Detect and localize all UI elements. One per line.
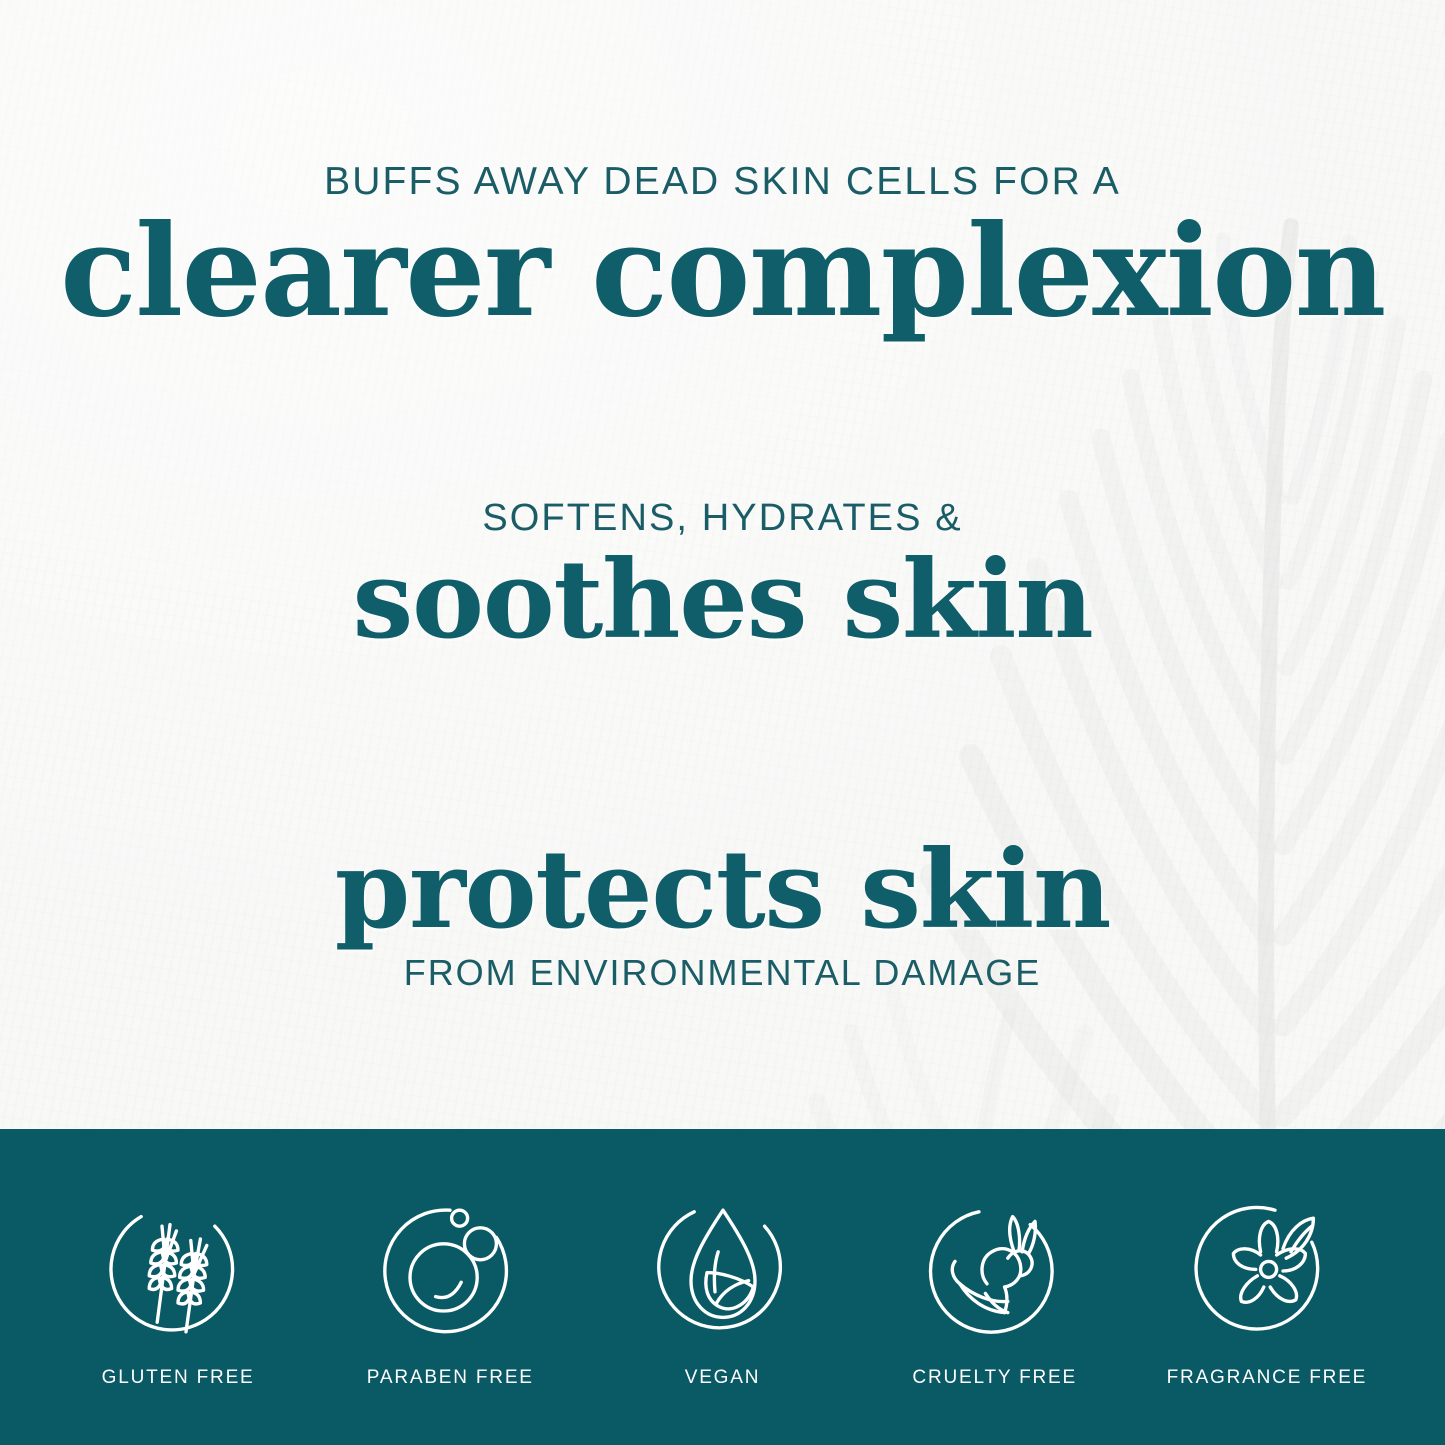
badge-label-cruelty-free: CRUELTY FREE [912, 1367, 1077, 1389]
rabbit-in-hand-icon [915, 1191, 1075, 1351]
wheat-stalks-icon [98, 1191, 258, 1351]
claim-1-headline: clearer complexion [0, 208, 1445, 334]
badge-label-fragrance-free: FRAGRANCE FREE [1167, 1367, 1368, 1389]
badge-label-paraben-free: PARABEN FREE [367, 1367, 534, 1389]
badge-cruelty-free: CRUELTY FREE [859, 1129, 1131, 1389]
badge-label-gluten-free: GLUTEN FREE [102, 1367, 255, 1389]
benefit-claim-1: BUFFS AWAY DEAD SKIN CELLS FOR A clearer… [0, 160, 1445, 334]
claim-2-headline: soothes skin [0, 546, 1445, 654]
certification-badge-bar: GLUTEN FREE PARABEN FREE [0, 1129, 1445, 1445]
badge-fragrance-free: FRAGRANCE FREE [1131, 1129, 1403, 1389]
claim-2-kicker: SOFTENS, HYDRATES & [0, 497, 1445, 540]
claim-3-headline: protects skin [0, 836, 1445, 944]
benefit-claim-3: protects skin FROM ENVIRONMENTAL DAMAGE [0, 836, 1445, 994]
claim-3-kicker: FROM ENVIRONMENTAL DAMAGE [0, 952, 1445, 994]
badge-vegan: VEGAN [586, 1129, 858, 1389]
bubbles-icon [370, 1191, 530, 1351]
badge-paraben-free: PARABEN FREE [314, 1129, 586, 1389]
product-benefits-infographic: BUFFS AWAY DEAD SKIN CELLS FOR A clearer… [0, 0, 1445, 1445]
badge-gluten-free: GLUTEN FREE [42, 1129, 314, 1389]
benefit-claim-2: SOFTENS, HYDRATES & soothes skin [0, 497, 1445, 654]
leaf-droplet-icon [643, 1191, 803, 1351]
flower-leaf-icon [1187, 1191, 1347, 1351]
badge-label-vegan: VEGAN [685, 1367, 761, 1389]
